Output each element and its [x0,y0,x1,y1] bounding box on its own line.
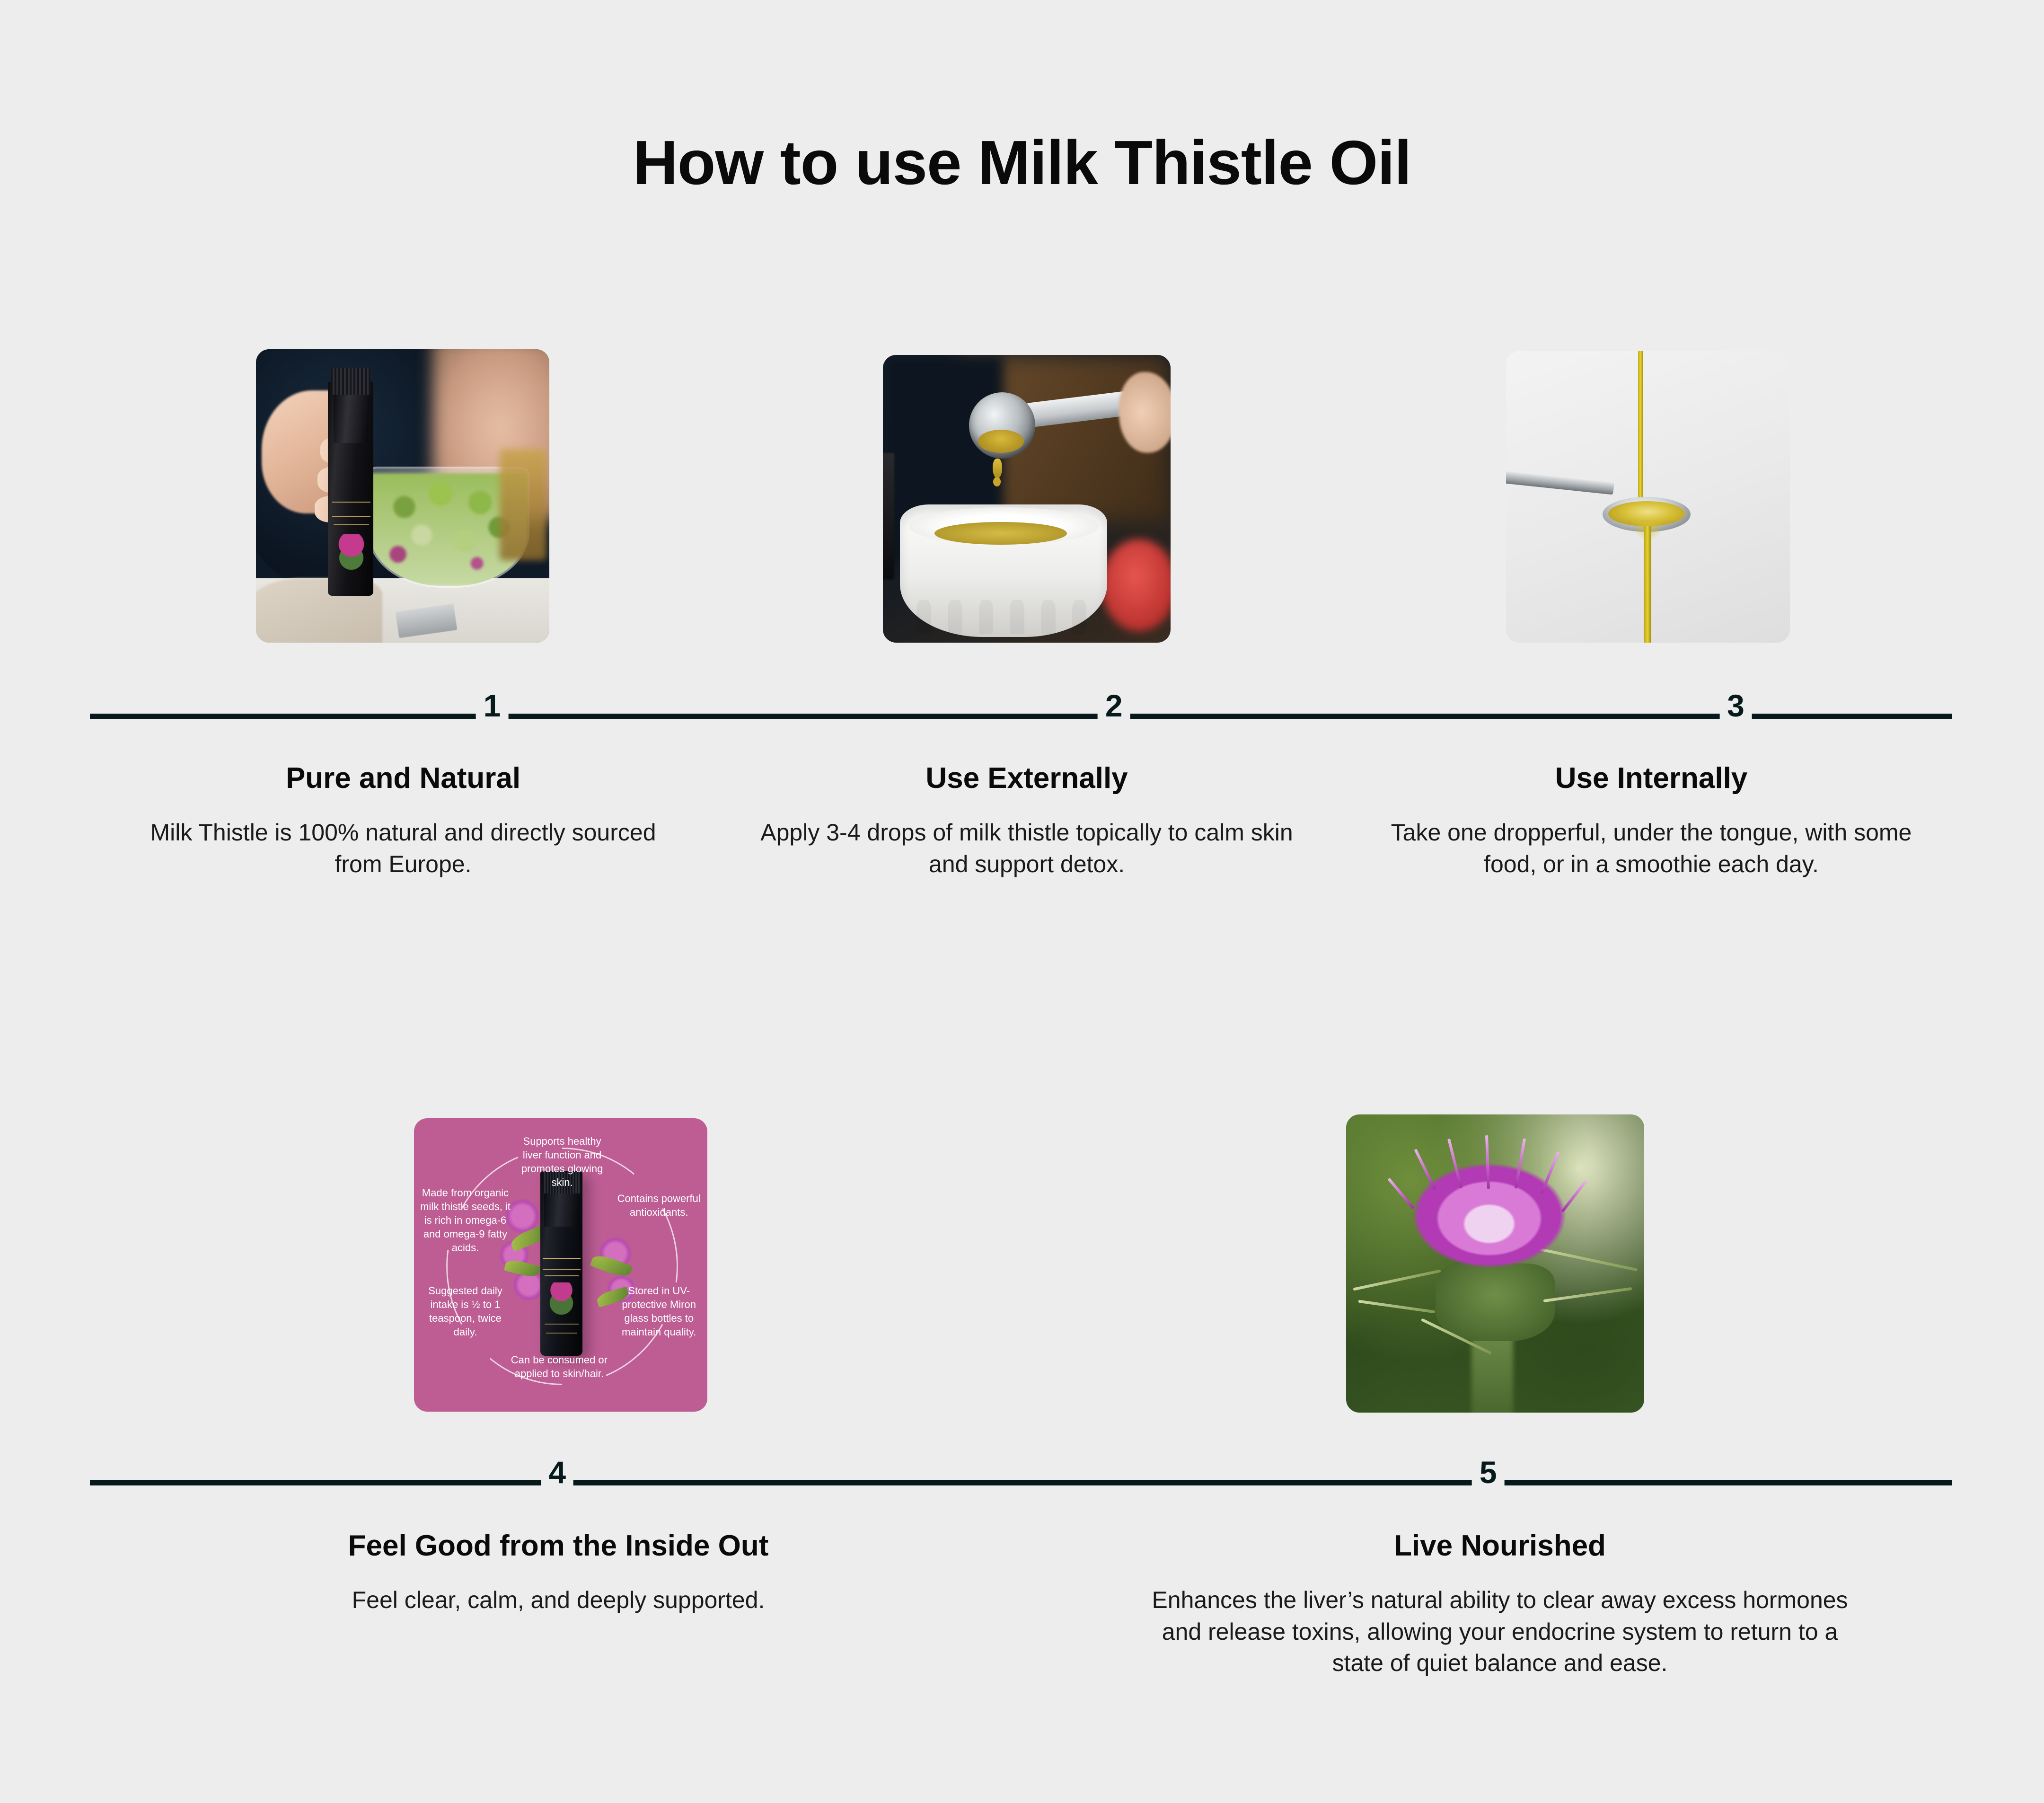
bottle-volume-label [545,1324,579,1325]
thorn [1358,1300,1436,1314]
page-title: How to use Milk Thistle Oil [0,132,2044,194]
step-1-body: Milk Thistle is 100% natural and directl… [124,817,682,880]
bottle-edge [883,453,894,580]
step-4-heading: Feel Good from the Inside Out [203,1529,913,1564]
spoon-handle [1506,470,1614,495]
step-4-text: Feel Good from the Inside Out Feel clear… [203,1529,913,1616]
oil-in-bowl [934,522,1067,545]
benefit-callout-antioxidants: Contains powerful antioxidants. [617,1192,702,1219]
step-2-image [883,355,1171,643]
thistle-bloom [1385,1144,1594,1282]
bottle-neck [334,393,367,443]
oil-drop [993,459,1002,479]
thorn [1543,1287,1632,1302]
benefit-callout-daily-intake: Suggested daily intake is ½ to 1 teaspoo… [420,1284,511,1339]
bottle-cap [331,368,370,395]
step-3-heading: Use Internally [1372,761,1930,796]
step-4-body: Feel clear, calm, and deeply supported. [203,1584,913,1616]
bowl-flute [1072,600,1087,635]
bottle-neck [544,1192,579,1227]
flower-stem [1471,1329,1513,1413]
step-marker-2: 2 [1098,688,1130,724]
bottle-thistle-artwork [338,534,365,573]
step-2-heading: Use Externally [748,761,1306,796]
step-5-body: Enhances the liver’s natural ability to … [1145,1584,1855,1679]
benefit-callout-omega: Made from organic milk thistle seeds, it… [420,1186,511,1255]
bottle-thistle-artwork [547,1282,575,1315]
step-1-image [256,349,549,643]
bottle-product-label [545,1275,579,1276]
step-2-text: Use Externally Apply 3-4 drops of milk t… [748,761,1306,880]
bowl-flute [979,600,994,635]
blurred-tomato [1101,539,1171,631]
step-marker-3: 3 [1719,688,1752,724]
step-marker-4: 4 [541,1455,573,1491]
oil-stream-lower [1644,526,1651,643]
step-1-text: Pure and Natural Milk Thistle is 100% na… [124,761,682,880]
oil-dripping-from-spoon-into-bowl-photo [883,355,1171,643]
step-4-image: Supports healthy liver function and prom… [414,1118,707,1412]
step-5-heading: Live Nourished [1145,1529,1855,1564]
milk-thistle-flower-photo [1346,1114,1644,1413]
bottle-company-label [546,1333,577,1334]
step-marker-5: 5 [1472,1455,1505,1491]
step-1-heading: Pure and Natural [124,761,682,796]
bowl-flute [948,600,962,635]
oil-stream-upper [1638,351,1643,505]
step-5-text: Live Nourished Enhances the liver’s natu… [1145,1529,1855,1679]
benefit-callout-usage: Can be consumed or applied to skin/hair. [511,1353,608,1380]
hand-holding-bottle-over-salad-photo [256,349,549,643]
step-3-body: Take one dropperful, under the tongue, w… [1372,817,1930,880]
product-benefits-card-photo: Supports healthy liver function and prom… [414,1118,707,1412]
bottle-brand-label [543,1258,581,1270]
bowl-flute [916,600,931,635]
step-divider-row-1: 1 2 3 [90,699,1952,733]
thorn [1353,1269,1441,1290]
step-marker-1: 1 [476,688,509,724]
divider-line [90,1480,1952,1485]
step-3-text: Use Internally Take one dropperful, unde… [1372,761,1930,880]
oil-pouring-onto-spoon-photo [1506,351,1790,643]
step-2-body: Apply 3-4 drops of milk thistle topicall… [748,817,1306,880]
step-3-image [1506,351,1790,643]
oil-in-spoon [978,430,1024,453]
thumb [1119,372,1171,452]
step-5-image [1346,1114,1644,1413]
benefit-callout-miron-glass: Stored in UV-protective Miron glass bott… [614,1284,705,1339]
bowl-flute [1010,600,1024,635]
background-jar [500,449,546,561]
bottle-product-label [334,524,369,525]
benefit-callout-liver: Supports healthy liver function and prom… [514,1134,611,1189]
bowl-flute [1041,600,1056,635]
step-divider-row-2: 4 5 [90,1466,1952,1499]
bottle-brand-label [332,502,370,517]
divider-line [90,714,1952,719]
